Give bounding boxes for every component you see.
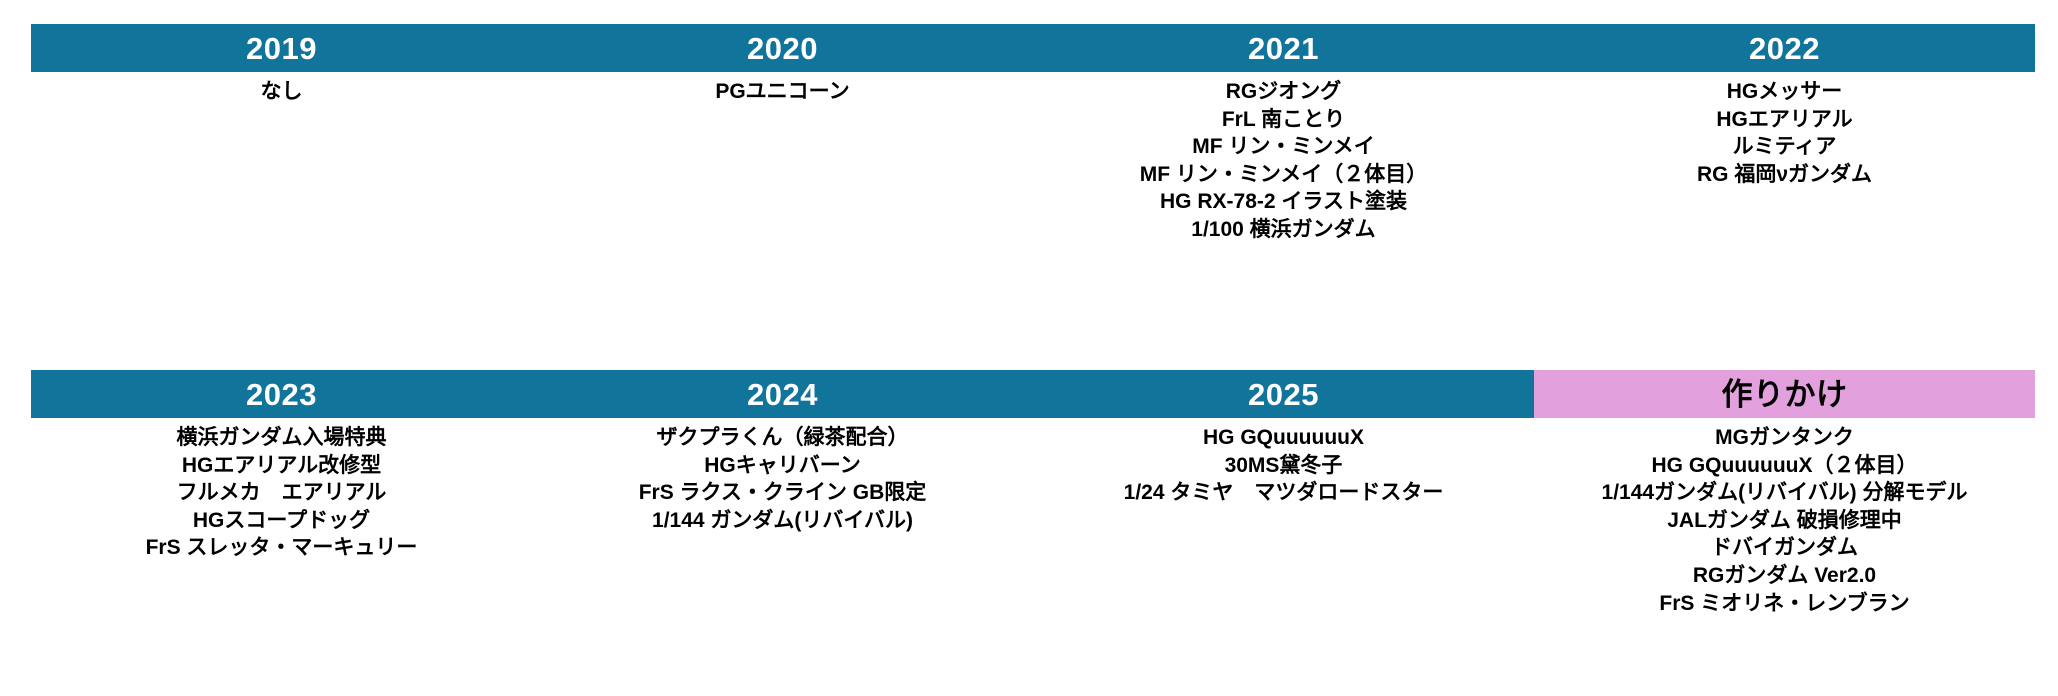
list-item: HG GQuuuuuuX（２体目） (1534, 452, 2035, 480)
list-item: 1/24 タミヤ マツダロードスター (1033, 479, 1534, 507)
list-item: RG 福岡νガンダム (1534, 161, 2035, 189)
list-item: 30MS黛冬子 (1033, 452, 1534, 480)
list-item: RGガンダム Ver2.0 (1534, 562, 2035, 590)
column-header-work-in-progress: 作りかけ (1534, 370, 2035, 418)
list-item: HG RX-78-2 イラスト塗装 (1033, 188, 1534, 216)
list-item: 1/144ガンダム(リバイバル) 分解モデル (1534, 479, 2035, 507)
list-item: MF リン・ミンメイ（２体目） (1033, 161, 1534, 189)
column-body-2023: 横浜ガンダム入場特典 HGエアリアル改修型 フルメカ エアリアル HGスコープド… (31, 418, 532, 617)
column-body-2021: RGジオング FrL 南ことり MF リン・ミンメイ MF リン・ミンメイ（２体… (1033, 72, 1534, 244)
column-body-work-in-progress: MGガンタンク HG GQuuuuuuX（２体目） 1/144ガンダム(リバイバ… (1534, 418, 2035, 617)
list-item: フルメカ エアリアル (31, 479, 532, 507)
list-item: HGスコープドッグ (31, 507, 532, 535)
column-body-2025: HG GQuuuuuuX 30MS黛冬子 1/24 タミヤ マツダロードスター (1033, 418, 1534, 617)
list-item: HGキャリバーン (532, 452, 1033, 480)
list-item: FrS ミオリネ・レンブラン (1534, 590, 2035, 618)
column-body-2022: HGメッサー HGエアリアル ルミティア RG 福岡νガンダム (1534, 72, 2035, 244)
column-header-2020: 2020 (532, 24, 1033, 72)
column-header-2024: 2024 (532, 370, 1033, 418)
column-body-2024: ザクプラくん（緑茶配合） HGキャリバーン FrS ラクス・クライン GB限定 … (532, 418, 1033, 617)
list-item: HGメッサー (1534, 78, 2035, 106)
list-item: FrS スレッタ・マーキュリー (31, 534, 532, 562)
list-item: FrL 南ことり (1033, 106, 1534, 134)
column-body-2019: なし (31, 72, 532, 244)
year-row-block-1: 2019 2020 2021 2022 なし PGユニコーン RGジオング Fr… (31, 24, 2035, 244)
header-strip-1: 2019 2020 2021 2022 (31, 24, 2035, 72)
gunpla-year-table: 2019 2020 2021 2022 なし PGユニコーン RGジオング Fr… (0, 0, 2058, 696)
list-item: PGユニコーン (532, 78, 1033, 106)
list-item: 1/144 ガンダム(リバイバル) (532, 507, 1033, 535)
header-strip-2: 2023 2024 2025 作りかけ (31, 370, 2035, 418)
column-header-2022: 2022 (1534, 24, 2035, 72)
body-strip-2: 横浜ガンダム入場特典 HGエアリアル改修型 フルメカ エアリアル HGスコープド… (31, 418, 2035, 617)
list-item: HG GQuuuuuuX (1033, 424, 1534, 452)
year-row-block-2: 2023 2024 2025 作りかけ 横浜ガンダム入場特典 HGエアリアル改修… (31, 370, 2035, 617)
list-item: なし (31, 78, 532, 106)
column-header-2025: 2025 (1033, 370, 1534, 418)
list-item: ザクプラくん（緑茶配合） (532, 424, 1033, 452)
list-item: RGジオング (1033, 78, 1534, 106)
list-item: FrS ラクス・クライン GB限定 (532, 479, 1033, 507)
list-item: MGガンタンク (1534, 424, 2035, 452)
list-item: 1/100 横浜ガンダム (1033, 216, 1534, 244)
column-header-2019: 2019 (31, 24, 532, 72)
body-strip-1: なし PGユニコーン RGジオング FrL 南ことり MF リン・ミンメイ MF… (31, 72, 2035, 244)
list-item: HGエアリアル (1534, 106, 2035, 134)
list-item: ドバイガンダム (1534, 534, 2035, 562)
list-item: MF リン・ミンメイ (1033, 133, 1534, 161)
list-item: HGエアリアル改修型 (31, 452, 532, 480)
list-item: ルミティア (1534, 133, 2035, 161)
list-item: 横浜ガンダム入場特典 (31, 424, 532, 452)
column-header-2023: 2023 (31, 370, 532, 418)
column-body-2020: PGユニコーン (532, 72, 1033, 244)
column-header-2021: 2021 (1033, 24, 1534, 72)
list-item: JALガンダム 破損修理中 (1534, 507, 2035, 535)
